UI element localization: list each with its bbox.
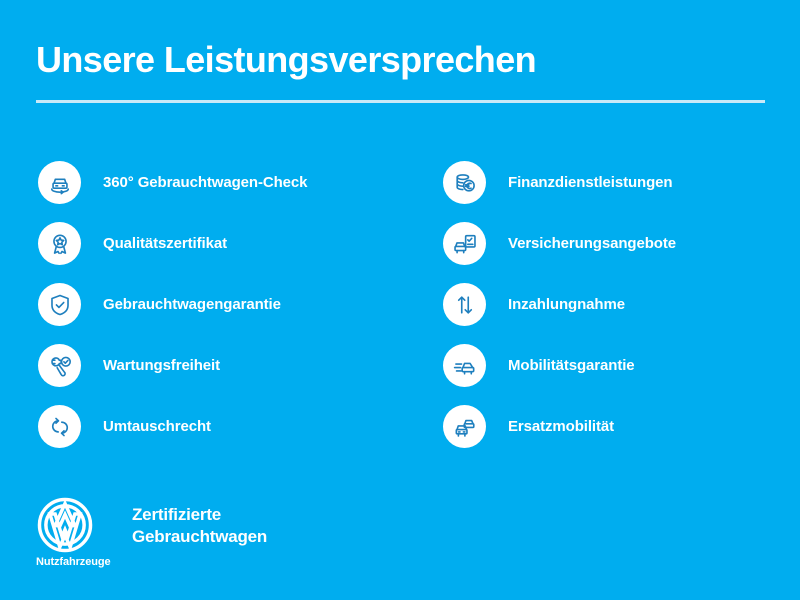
arrows-up-down-icon	[443, 283, 486, 326]
car-360-check-icon	[38, 161, 81, 204]
award-medal-icon	[38, 222, 81, 265]
benefit-item-quality-certificate[interactable]: Qualitätszertifikat	[38, 213, 428, 274]
benefit-item-replacement-mobility[interactable]: Ersatzmobilität	[443, 396, 793, 457]
benefit-label: Gebrauchtwagengarantie	[103, 296, 281, 313]
benefit-item-maintenance-free[interactable]: Wartungsfreiheit	[38, 335, 428, 396]
benefits-column-right: Finanzdienstleistungen Versicherungsange…	[443, 152, 793, 457]
benefit-item-360-check[interactable]: 360° Gebrauchtwagen-Check	[38, 152, 428, 213]
brand-sub-label: Nutzfahrzeuge	[36, 556, 102, 568]
brand-claim-line1: Zertifizierte	[132, 504, 267, 526]
benefit-label: Wartungsfreiheit	[103, 357, 220, 374]
benefits-column-left: 360° Gebrauchtwagen-Check Qualitätszerti…	[38, 152, 428, 457]
benefit-item-mobility-guarantee[interactable]: Mobilitätsgarantie	[443, 335, 793, 396]
brand-mark: Nutzfahrzeuge	[36, 496, 102, 568]
two-cars-icon	[443, 405, 486, 448]
benefit-label: Qualitätszertifikat	[103, 235, 227, 252]
car-motion-icon	[443, 344, 486, 387]
benefit-item-insurance-offers[interactable]: Versicherungsangebote	[443, 213, 793, 274]
brand-claim: Zertifizierte Gebrauchtwagen	[132, 504, 267, 549]
shield-check-icon	[38, 283, 81, 326]
benefit-label: Umtauschrecht	[103, 418, 211, 435]
benefit-item-financial-services[interactable]: Finanzdienstleistungen	[443, 152, 793, 213]
benefit-item-warranty[interactable]: Gebrauchtwagengarantie	[38, 274, 428, 335]
benefit-label: Finanzdienstleistungen	[508, 174, 672, 191]
page-title: Unsere Leistungsversprechen	[36, 40, 756, 80]
benefit-label: Inzahlungnahme	[508, 296, 625, 313]
wrench-check-icon	[38, 344, 81, 387]
slide-root: Unsere Leistungsversprechen 360° Gebrauc…	[0, 0, 800, 600]
title-divider	[36, 100, 765, 103]
benefit-item-exchange-right[interactable]: Umtauschrecht	[38, 396, 428, 457]
benefit-label: 360° Gebrauchtwagen-Check	[103, 174, 307, 191]
brand-claim-line2: Gebrauchtwagen	[132, 526, 267, 548]
brand-lockup: Nutzfahrzeuge Zertifizierte Gebrauchtwag…	[36, 496, 456, 576]
benefit-label: Mobilitätsgarantie	[508, 357, 635, 374]
exchange-arrows-icon	[38, 405, 81, 448]
benefit-label: Versicherungsangebote	[508, 235, 676, 252]
coins-euro-icon	[443, 161, 486, 204]
volkswagen-logo	[36, 496, 94, 554]
benefit-item-trade-in[interactable]: Inzahlungnahme	[443, 274, 793, 335]
car-checklist-icon	[443, 222, 486, 265]
benefit-label: Ersatzmobilität	[508, 418, 614, 435]
